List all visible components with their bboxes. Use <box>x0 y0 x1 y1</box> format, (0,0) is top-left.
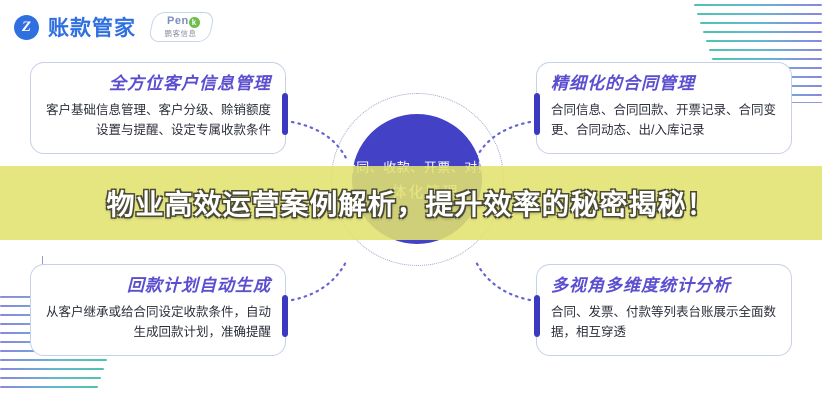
sub-brand-latin: Penk <box>167 16 200 28</box>
decorative-line <box>703 31 822 33</box>
decorative-line <box>0 377 101 379</box>
headline-text: 物业高效运营案例解析，提升效率的秘密揭秘！ <box>106 183 715 223</box>
decorative-line <box>0 386 98 388</box>
card-customer-info[interactable]: 全方位客户信息管理 客户基础信息管理、客户分级、赊销额度设置与提醒、设定专属收款… <box>30 62 286 154</box>
decorative-line <box>0 359 107 361</box>
decorative-line <box>700 22 822 24</box>
decorative-line <box>712 58 822 60</box>
card-contract-management[interactable]: 精细化的合同管理 合同信息、合同回款、开票记录、合同变更、合同动态、出/入库记录 <box>536 62 792 154</box>
card-accent-tab <box>282 93 288 135</box>
sub-brand-cn: 鹏客信息 <box>165 30 197 38</box>
infographic-canvas: Z 账款管家 Penk 鹏客信息 合同、收款、开票、对账 一体化管理 全方位客户… <box>0 0 822 400</box>
headline-banner: 物业高效运营案例解析，提升效率的秘密揭秘！ <box>0 166 822 240</box>
card-payment-plan[interactable]: 回款计划自动生成 从客户继承或给合同设定收款条件，自动生成回款计划，准确提醒 <box>30 264 286 356</box>
sub-brand-dot-icon: k <box>189 17 200 28</box>
brand-name: 账款管家 <box>48 12 136 42</box>
card-title: 全方位客户信息管理 <box>45 74 271 94</box>
sub-brand-badge: Penk 鹏客信息 <box>148 12 215 42</box>
card-body: 合同、发票、付款等列表台账展示全面数据，相互穿透 <box>551 303 777 342</box>
decorative-line <box>697 13 822 15</box>
decorative-line <box>0 368 104 370</box>
brand-logo-icon: Z <box>14 15 39 40</box>
card-body: 合同信息、合同回款、开票记录、合同变更、合同动态、出/入库记录 <box>551 101 777 140</box>
card-body: 客户基础信息管理、客户分级、赊销额度设置与提醒、设定专属收款条件 <box>45 101 271 140</box>
decorative-line <box>0 259 106 261</box>
card-title: 精细化的合同管理 <box>551 74 777 94</box>
decorative-line <box>709 49 822 51</box>
card-body: 从客户继承或给合同设定收款条件，自动生成回款计划，准确提醒 <box>45 303 271 342</box>
decorative-line <box>694 4 822 6</box>
sub-brand-latin-text: Pen <box>167 15 189 27</box>
decorative-line <box>0 248 112 250</box>
card-accent-tab <box>534 295 540 337</box>
card-title: 多视角多维度统计分析 <box>551 276 777 296</box>
card-title: 回款计划自动生成 <box>45 276 271 296</box>
card-statistics-analysis[interactable]: 多视角多维度统计分析 合同、发票、付款等列表台账展示全面数据，相互穿透 <box>536 264 792 356</box>
card-accent-tab <box>534 93 540 135</box>
card-accent-tab <box>282 295 288 337</box>
brand-lockup: Z 账款管家 Penk 鹏客信息 <box>14 12 212 42</box>
decorative-line <box>706 40 822 42</box>
